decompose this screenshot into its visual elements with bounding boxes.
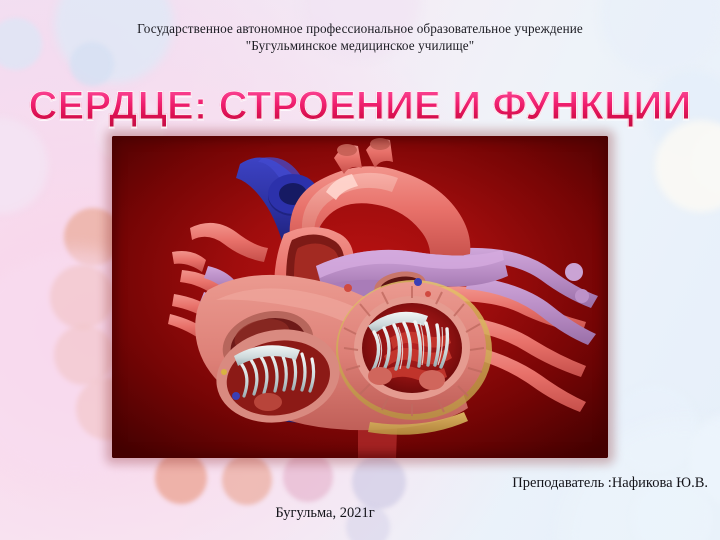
presentation-slide: Государственное автономное профессиональ…: [0, 0, 720, 540]
circle-right-low-1-decoration: [612, 385, 698, 471]
circle-left-pale-decoration: [0, 118, 48, 214]
slide-title: СЕРДЦЕ: СТРОЕНИЕ И ФУНКЦИИ: [29, 84, 692, 128]
teacher-credit: Преподаватель :Нафикова Ю.В.: [512, 475, 708, 492]
title-container: СЕРДЦЕ: СТРОЕНИЕ И ФУНКЦИИ: [0, 84, 720, 128]
institution-line-1: Государственное автономное профессиональ…: [0, 20, 720, 37]
circle-right-mid-decoration: [690, 125, 720, 195]
circle-bottom-salmon-2-decoration: [222, 455, 272, 505]
circle-bottom-pink-decoration: [283, 452, 333, 502]
heart-anatomy-image: [112, 136, 608, 458]
circle-left-salmon-2-decoration: [50, 265, 114, 329]
place-and-year: Бугульма, 2021г: [0, 505, 720, 522]
circle-right-glow-decoration: [655, 120, 720, 212]
institution-header: Государственное автономное профессиональ…: [0, 20, 720, 54]
circle-bottom-lavender-decoration: [352, 455, 406, 509]
circle-bottom-salmon-1-decoration: [155, 452, 207, 504]
circle-left-salmon-3-decoration: [54, 325, 114, 385]
institution-line-2: "Бугульминское медицинское училище": [0, 37, 720, 54]
heart-illustration: [112, 136, 608, 458]
